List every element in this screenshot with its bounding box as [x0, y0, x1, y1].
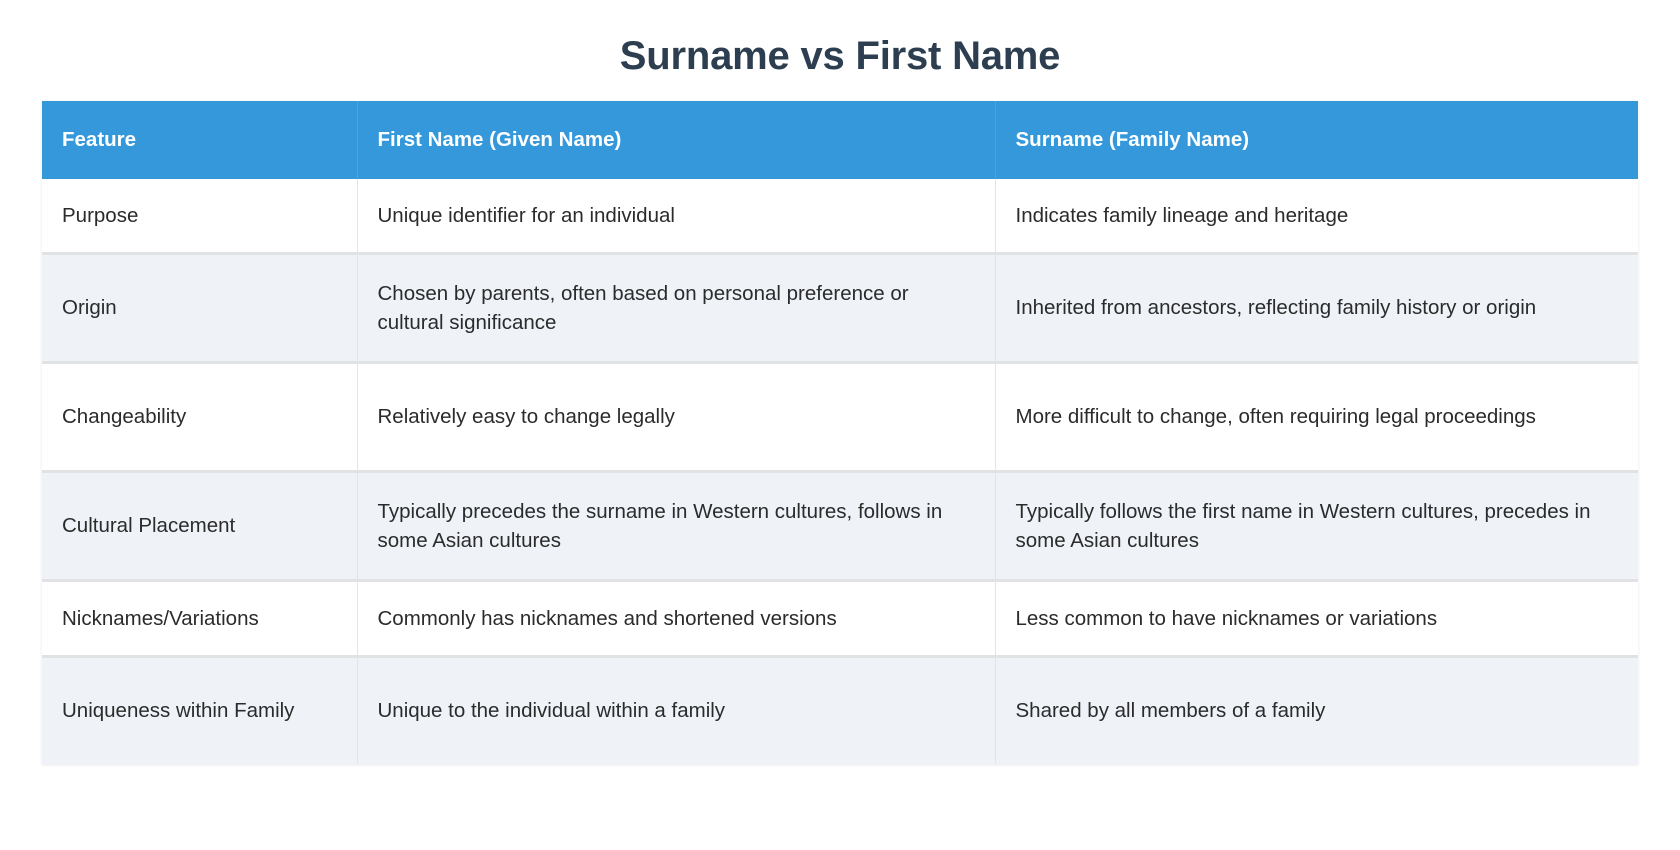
comparison-table-container: Feature First Name (Given Name) Surname … — [42, 101, 1638, 764]
cell-first-name: Typically precedes the surname in Wester… — [357, 471, 995, 580]
cell-surname: More difficult to change, often requirin… — [995, 362, 1638, 471]
column-header-first-name[interactable]: First Name (Given Name) — [357, 101, 995, 179]
table-row: Nicknames/Variations Commonly has nickna… — [42, 580, 1638, 656]
table-row: Changeability Relatively easy to change … — [42, 362, 1638, 471]
table-row: Purpose Unique identifier for an individ… — [42, 179, 1638, 254]
cell-first-name: Unique identifier for an individual — [357, 179, 995, 254]
cell-feature: Purpose — [42, 179, 357, 254]
column-header-surname[interactable]: Surname (Family Name) — [995, 101, 1638, 179]
cell-surname: Indicates family lineage and heritage — [995, 179, 1638, 254]
comparison-table: Feature First Name (Given Name) Surname … — [42, 101, 1638, 764]
page-root: Surname vs First Name Feature First Name… — [0, 0, 1680, 850]
page-title: Surname vs First Name — [0, 0, 1680, 82]
cell-surname: Inherited from ancestors, reflecting fam… — [995, 253, 1638, 362]
cell-surname: Less common to have nicknames or variati… — [995, 580, 1638, 656]
cell-feature: Cultural Placement — [42, 471, 357, 580]
cell-first-name: Commonly has nicknames and shortened ver… — [357, 580, 995, 656]
cell-feature: Changeability — [42, 362, 357, 471]
cell-surname: Typically follows the first name in West… — [995, 471, 1638, 580]
cell-feature: Nicknames/Variations — [42, 580, 357, 656]
table-row: Origin Chosen by parents, often based on… — [42, 253, 1638, 362]
cell-first-name: Unique to the individual within a family — [357, 656, 995, 764]
table-body: Purpose Unique identifier for an individ… — [42, 179, 1638, 764]
table-header-row: Feature First Name (Given Name) Surname … — [42, 101, 1638, 179]
table-row: Uniqueness within Family Unique to the i… — [42, 656, 1638, 764]
table-header: Feature First Name (Given Name) Surname … — [42, 101, 1638, 179]
cell-feature: Origin — [42, 253, 357, 362]
cell-first-name: Relatively easy to change legally — [357, 362, 995, 471]
cell-first-name: Chosen by parents, often based on person… — [357, 253, 995, 362]
column-header-feature[interactable]: Feature — [42, 101, 357, 179]
table-row: Cultural Placement Typically precedes th… — [42, 471, 1638, 580]
cell-feature: Uniqueness within Family — [42, 656, 357, 764]
cell-surname: Shared by all members of a family — [995, 656, 1638, 764]
